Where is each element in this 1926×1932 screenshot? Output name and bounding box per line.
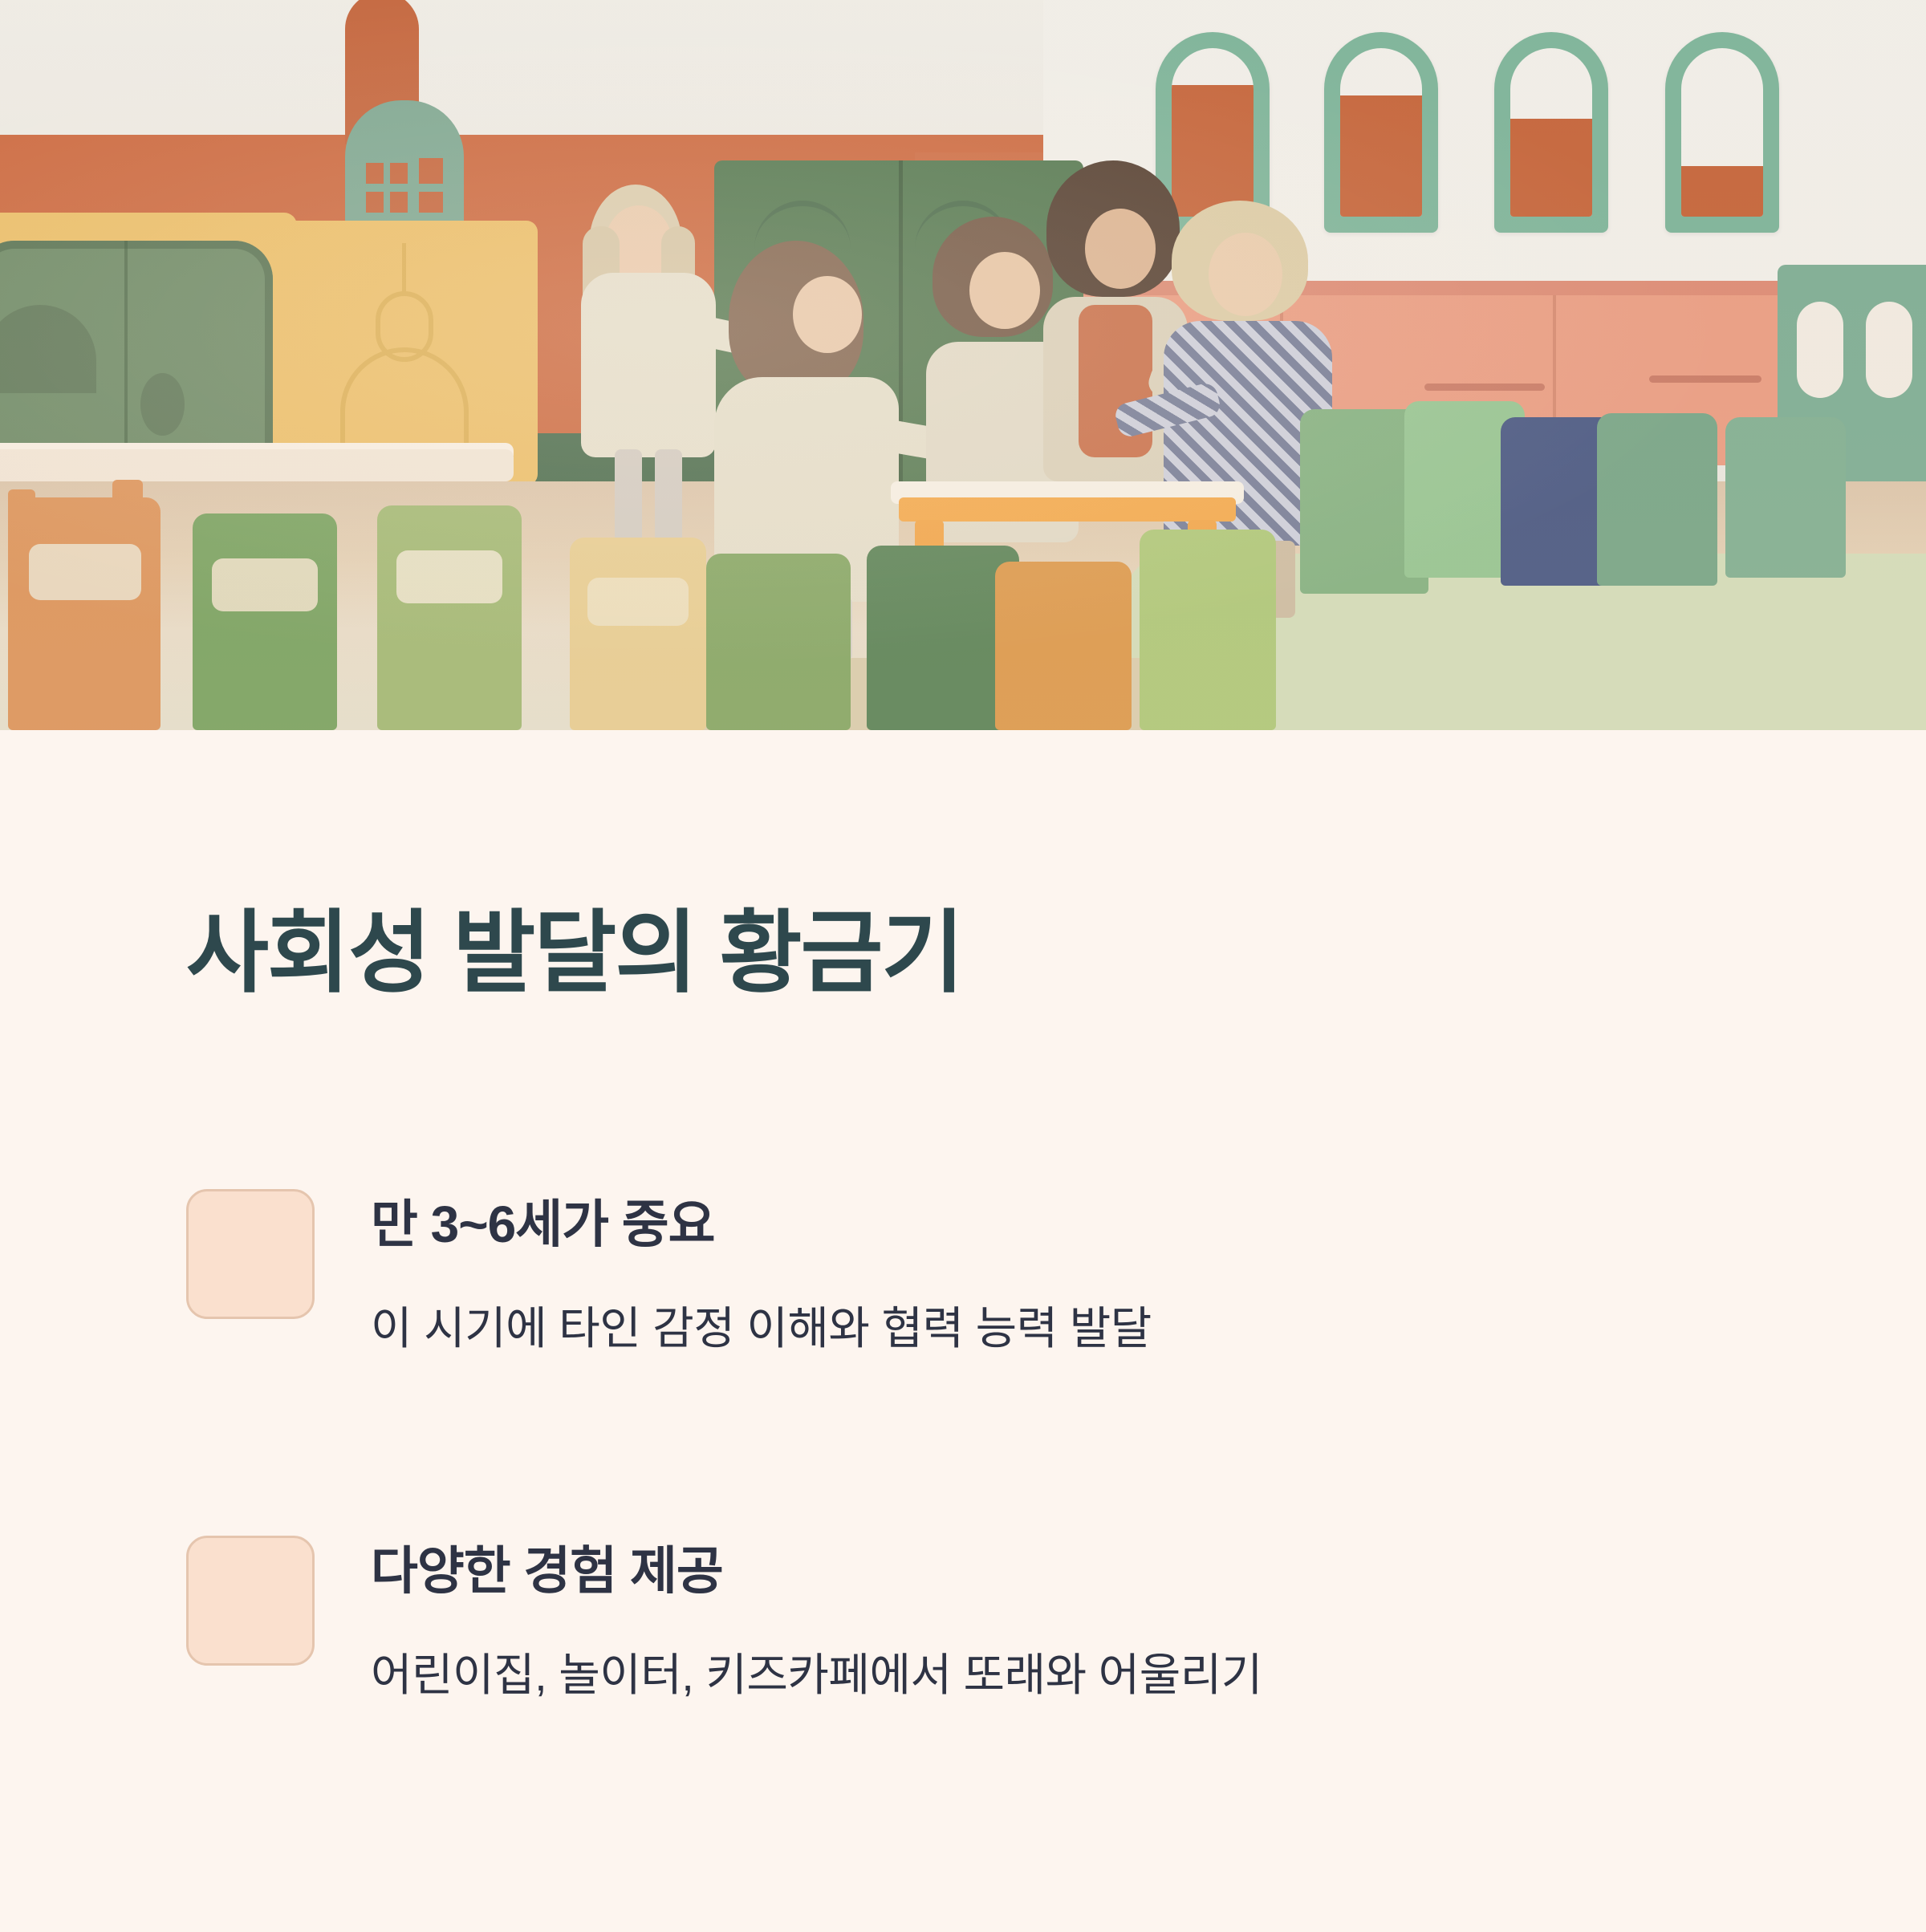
feature-list: 만 3~6세가 중요 이 시기에 타인 감정 이해와 협력 능력 발달 다양한 … (0, 1163, 1926, 1857)
arch-mirror-glass (1681, 48, 1763, 217)
chair-green-1 (193, 513, 337, 730)
window-pane (419, 158, 443, 184)
feature-item-1: 만 3~6세가 중요 이 시기에 타인 감정 이해와 협력 능력 발달 (0, 1163, 1926, 1510)
window-pane (419, 192, 443, 213)
feature-heading: 다양한 경험 제공 (371, 1540, 723, 1602)
feature-description: 이 시기에 타인 감정 이해와 협력 능력 발달 (371, 1298, 1152, 1359)
cabinet-cutout (0, 305, 96, 393)
chair-olive-2 (1140, 530, 1276, 730)
cabinet-handle (1424, 384, 1545, 391)
chair-green-2 (706, 554, 851, 730)
activity-table (899, 497, 1236, 522)
content-section: 사회성 발달의 황금기 만 3~6세가 중요 이 시기에 타인 감정 이해와 협… (0, 730, 1926, 1932)
shelf-slot (1866, 302, 1912, 398)
cabinet-cutout (140, 373, 185, 436)
window-pane (390, 192, 408, 213)
feature-marker-icon (186, 1536, 315, 1666)
left-table (0, 449, 514, 481)
hero-photo (0, 0, 1926, 730)
window-pane (366, 192, 384, 213)
chair-yellow-1 (570, 538, 706, 730)
chair-green-6 (1597, 413, 1717, 586)
window-pane (366, 163, 384, 184)
feature-marker-icon (186, 1189, 315, 1319)
arch-reflection (1510, 119, 1592, 217)
arch-mirror-glass (1510, 48, 1592, 217)
page-title: 사회성 발달의 황금기 (186, 908, 963, 998)
arch-mirror-2 (1324, 32, 1438, 233)
arch-mirror-3 (1494, 32, 1608, 233)
child-1 (578, 185, 722, 570)
card-page: 사회성 발달의 황금기 만 3~6세가 중요 이 시기에 타인 감정 이해와 협… (0, 0, 1926, 1932)
chair-orange-2 (995, 562, 1132, 730)
cabinet-motif (402, 243, 406, 293)
shelf-slot (1797, 302, 1843, 398)
cabinet-handle (1649, 375, 1761, 383)
window-pane (390, 163, 408, 184)
feature-heading: 만 3~6세가 중요 (371, 1194, 715, 1256)
feature-description: 어린이집, 놀이터, 키즈카페에서 또래와 어울리기 (371, 1645, 1262, 1706)
arch-mirror-glass (1340, 48, 1422, 217)
arch-reflection (1340, 95, 1422, 217)
chair-orange-1 (8, 497, 160, 730)
chair-green-7 (1725, 417, 1846, 578)
arch-mirror-4 (1665, 32, 1779, 233)
feature-item-2: 다양한 경험 제공 어린이집, 놀이터, 키즈카페에서 또래와 어울리기 (0, 1510, 1926, 1857)
arch-reflection (1681, 166, 1763, 217)
chair-olive-1 (377, 505, 522, 730)
